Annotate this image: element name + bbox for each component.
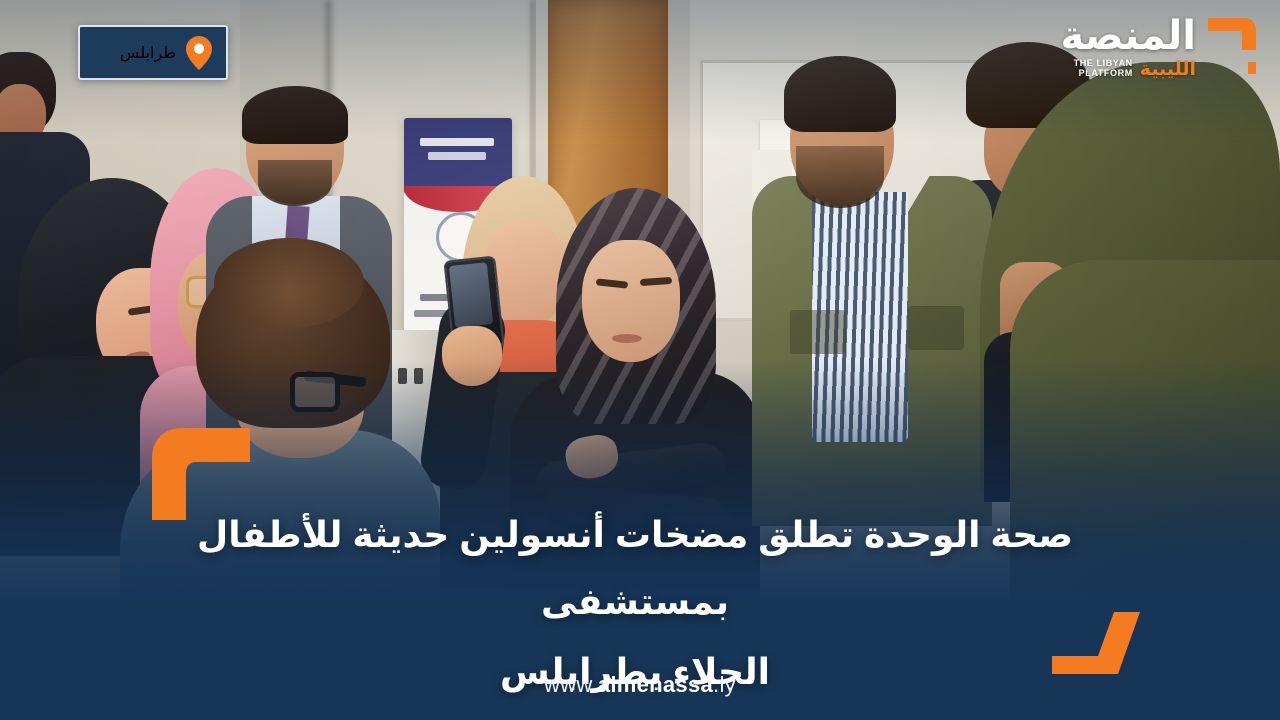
location-badge[interactable]: طرابلس xyxy=(78,25,228,80)
logo-arabic-subtitle: الليبية xyxy=(1140,60,1196,79)
logo-english-subtitle: THE LIBYAN PLATFORM xyxy=(1074,58,1133,79)
logo-arabic-main: المنصة xyxy=(1060,16,1196,56)
logo-text-block: المنصة THE LIBYAN PLATFORM الليبية xyxy=(1060,16,1196,79)
site-url-name: almenassa xyxy=(598,672,713,697)
location-pin-icon xyxy=(186,36,212,70)
logo-english-line-1: THE LIBYAN xyxy=(1074,58,1133,68)
headline-line-1: صحة الوحدة تطلق مضخات أنسولين حديثة للأط… xyxy=(150,502,1120,635)
logo-bracket-mark-icon xyxy=(1202,16,1258,78)
site-url-prefix: www. xyxy=(544,672,598,697)
site-logo[interactable]: المنصة THE LIBYAN PLATFORM الليبية xyxy=(1060,16,1258,79)
site-url-tld: .ly xyxy=(713,672,736,697)
site-url[interactable]: www.almenassa.ly xyxy=(0,672,1280,698)
location-badge-label: طرابلس xyxy=(120,43,176,63)
logo-subtitle-row: THE LIBYAN PLATFORM الليبية xyxy=(1074,58,1196,79)
logo-english-line-2: PLATFORM xyxy=(1079,68,1133,78)
news-graphic-card: طرابلس المنصة THE LIBYAN PLATFORM الليبي… xyxy=(0,0,1280,720)
